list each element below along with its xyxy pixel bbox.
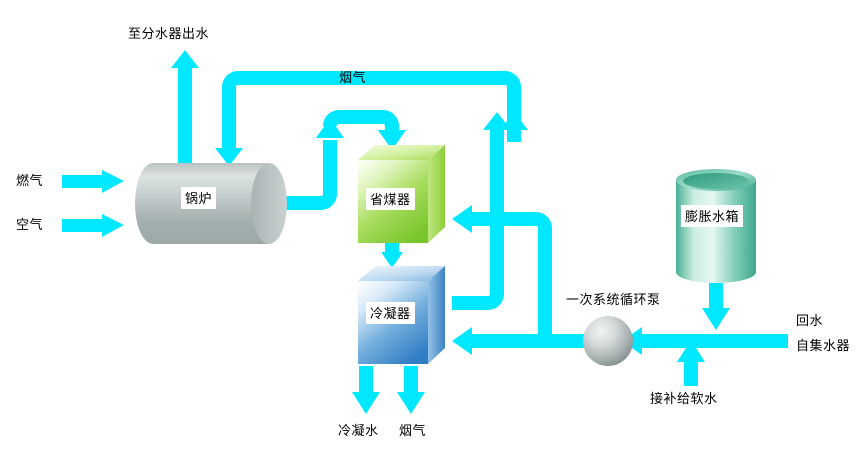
- pipe-economizer-to-condenser: [381, 243, 403, 268]
- equipment-label-boiler: 锅炉: [181, 187, 216, 209]
- pipe-tank-downcomer: [702, 283, 730, 330]
- equipment-circulation-pump: [583, 316, 633, 366]
- label-condensate-out: 冷凝水: [338, 423, 379, 441]
- equipment-label-expansion-tank: 膨胀水箱: [681, 205, 743, 227]
- equipment-label-economizer: 省煤器: [366, 188, 415, 210]
- label-to-distributor: 至分水器出水: [128, 26, 209, 44]
- pipe-return-to-pump: [622, 327, 788, 355]
- label-air: 空气: [16, 217, 43, 235]
- label-makeup-water: 接补给软水: [650, 391, 718, 409]
- label-return-water-line1: 回水: [796, 313, 823, 331]
- diagram-graphics: [0, 0, 865, 463]
- pipe-condensate-out: [352, 366, 380, 414]
- pipe-air-inlet: [62, 214, 124, 237]
- label-circulation-pump: 一次系统循环泵: [566, 292, 661, 310]
- label-fuel-gas: 燃气: [16, 173, 43, 191]
- pipe-fuel-gas-inlet: [62, 170, 124, 193]
- pipe-boiler-to-distributor: [171, 50, 199, 168]
- pipe-junction-right-branch: [504, 212, 552, 341]
- label-flue-gas-top: 烟气: [339, 70, 366, 88]
- label-return-water-line2: 自集水器: [796, 338, 850, 356]
- pipe-flue-gas-out: [397, 366, 425, 414]
- label-flue-gas-out: 烟气: [399, 423, 426, 441]
- pipe-right-riser-up: [483, 112, 511, 214]
- equipment-label-condenser: 冷凝器: [366, 302, 415, 324]
- pipe-return-into-boiler: [215, 71, 243, 166]
- pipe-boiler-flue-to-economizer: [283, 118, 344, 210]
- flow-diagram-canvas: 至分水器出水 烟气 燃气 空气 一次系统循环泵 回水 自集水器 接补给软水 冷凝…: [0, 0, 865, 463]
- pipe-junction-vertical: [452, 226, 504, 310]
